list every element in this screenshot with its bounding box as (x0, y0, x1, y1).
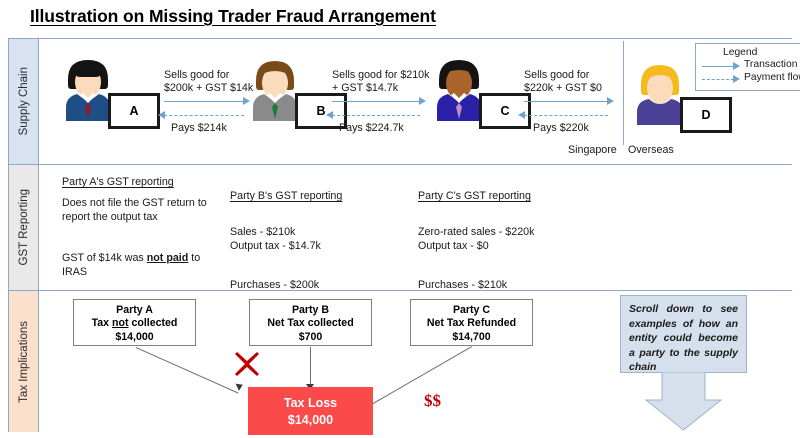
legend-transaction-label: Transaction flow (744, 59, 800, 70)
flow-b-c-transaction-arrow (332, 101, 420, 102)
tax-box-party-c: Party C Net Tax Refunded $14,700 (410, 299, 533, 346)
band-supply-chain: Supply Chain A (9, 39, 792, 165)
flow-b-c-pay-label: Pays $224.7k (339, 122, 404, 135)
gst-text-c-1: Zero-rated sales - $220k Output tax - $0 (418, 225, 593, 253)
legend-transaction-arrow (702, 66, 734, 67)
tax-box-c-party: Party C (411, 304, 532, 317)
flow-a-b-sell-line1: Sells good for (164, 69, 229, 82)
connector-c-to-loss (364, 346, 472, 409)
flow-a-b-transaction-arrow (164, 101, 244, 102)
flow-a-b-payment-arrowhead (158, 111, 165, 119)
band-tax-implications: Tax Implications Party A Tax not collect… (9, 291, 792, 432)
connector-a-arrowhead (236, 381, 245, 391)
gst-reporting-body: Party A's GST reporting Does not file th… (40, 165, 792, 290)
band-label-text: Tax Implications (18, 321, 30, 403)
actor-code-a: A (108, 93, 160, 129)
flow-c-d-payment-arrow (524, 115, 608, 116)
tax-box-a-desc: Tax not collected (74, 317, 195, 330)
flow-c-d-sell-line1: Sells good for (524, 69, 589, 82)
flow-b-c-sell-line1: Sells good for $210k (332, 69, 429, 82)
diagram-page: Illustration on Missing Trader Fraud Arr… (0, 0, 800, 438)
legend: Legend Transaction flow Payment flow (695, 43, 800, 91)
band-label-gst-reporting: GST Reporting (9, 165, 39, 290)
down-arrow-icon (620, 372, 747, 432)
tax-box-a-party: Party A (74, 304, 195, 317)
tax-loss-amount: $14,000 (249, 412, 372, 429)
tax-box-b-amount: $700 (250, 331, 371, 344)
flow-c-d-transaction-arrowhead (607, 97, 614, 105)
flow-b-c-sell-line2: + GST $14.7k (332, 82, 398, 95)
legend-payment-arrowhead (733, 75, 740, 83)
band-label-text: Supply Chain (18, 67, 30, 135)
flow-a-b-payment-arrow (164, 115, 244, 116)
region-label-singapore: Singapore (568, 144, 617, 156)
gst-header-b: Party B's GST reporting (230, 189, 398, 203)
connector-a-to-loss (136, 347, 239, 393)
tax-box-b-party: Party B (250, 304, 371, 317)
page-title: Illustration on Missing Trader Fraud Arr… (30, 6, 436, 27)
gst-text-a-final: GST of $14k was not paid to IRAS (62, 251, 222, 279)
tax-box-party-a: Party A Tax not collected $14,000 (73, 299, 196, 346)
flow-b-c-transaction-arrowhead (419, 97, 426, 105)
tax-loss-box: Tax Loss $14,000 (248, 387, 373, 435)
legend-transaction-arrowhead (733, 62, 740, 70)
flow-b-c-payment-arrow (332, 115, 420, 116)
tax-box-b-desc: Net Tax collected (250, 317, 371, 330)
flow-c-d-pay-label: Pays $220k (533, 122, 589, 135)
gst-column-party-a: Party A's GST reporting Does not file th… (62, 175, 222, 279)
band-label-tax-implications: Tax Implications (9, 291, 39, 432)
tax-box-a-desc-post: collected (129, 317, 178, 329)
band-label-text: GST Reporting (18, 189, 30, 266)
scroll-down-callout-text: Scroll down to see examples of how an en… (620, 295, 747, 373)
actor-code-d: D (680, 97, 732, 133)
tax-box-party-b: Party B Net Tax collected $700 (249, 299, 372, 346)
gst-text-a-1: Does not file the GST return to report t… (62, 196, 222, 224)
gst-a-prefix: GST of $14k was (62, 252, 147, 264)
tax-box-a-desc-underline: not (112, 317, 128, 329)
band-label-supply-chain: Supply Chain (9, 39, 39, 164)
gst-header-a: Party A's GST reporting (62, 175, 222, 189)
tax-box-a-desc-pre: Tax (92, 317, 112, 329)
tax-box-c-desc: Net Tax Refunded (411, 317, 532, 330)
legend-payment-arrow (702, 79, 734, 80)
region-label-overseas: Overseas (628, 144, 674, 156)
flow-a-b-sell-line2: $200k + GST $14k (164, 82, 253, 95)
tax-implications-body: Party A Tax not collected $14,000 Party … (40, 291, 792, 432)
tax-box-c-amount: $14,700 (411, 331, 532, 344)
dollars-marker: $$ (424, 391, 441, 411)
flow-c-d-transaction-arrow (524, 101, 608, 102)
legend-payment-label: Payment flow (744, 72, 800, 83)
blocked-x-icon (234, 351, 260, 377)
connector-b-to-loss (310, 347, 311, 387)
flow-b-c-payment-arrowhead (326, 111, 333, 119)
flow-c-d-sell-line2: $220k + GST $0 (524, 82, 602, 95)
tax-box-a-amount: $14,000 (74, 331, 195, 344)
legend-title: Legend (723, 47, 757, 58)
diagram-frame: Supply Chain A (8, 38, 792, 432)
flow-c-d-payment-arrowhead (518, 111, 525, 119)
tax-loss-label: Tax Loss (249, 395, 372, 412)
gst-header-c: Party C's GST reporting (418, 189, 593, 203)
region-divider (623, 41, 624, 145)
supply-chain-body: A Sells good for $200k + GST $14k Pays $… (40, 39, 792, 164)
gst-a-bold: not paid (147, 252, 189, 264)
flow-a-b-pay-label: Pays $214k (171, 122, 227, 135)
gst-text-b-1: Sales - $210k Output tax - $14.7k (230, 225, 398, 253)
band-gst-reporting: GST Reporting Party A's GST reporting Do… (9, 165, 792, 291)
